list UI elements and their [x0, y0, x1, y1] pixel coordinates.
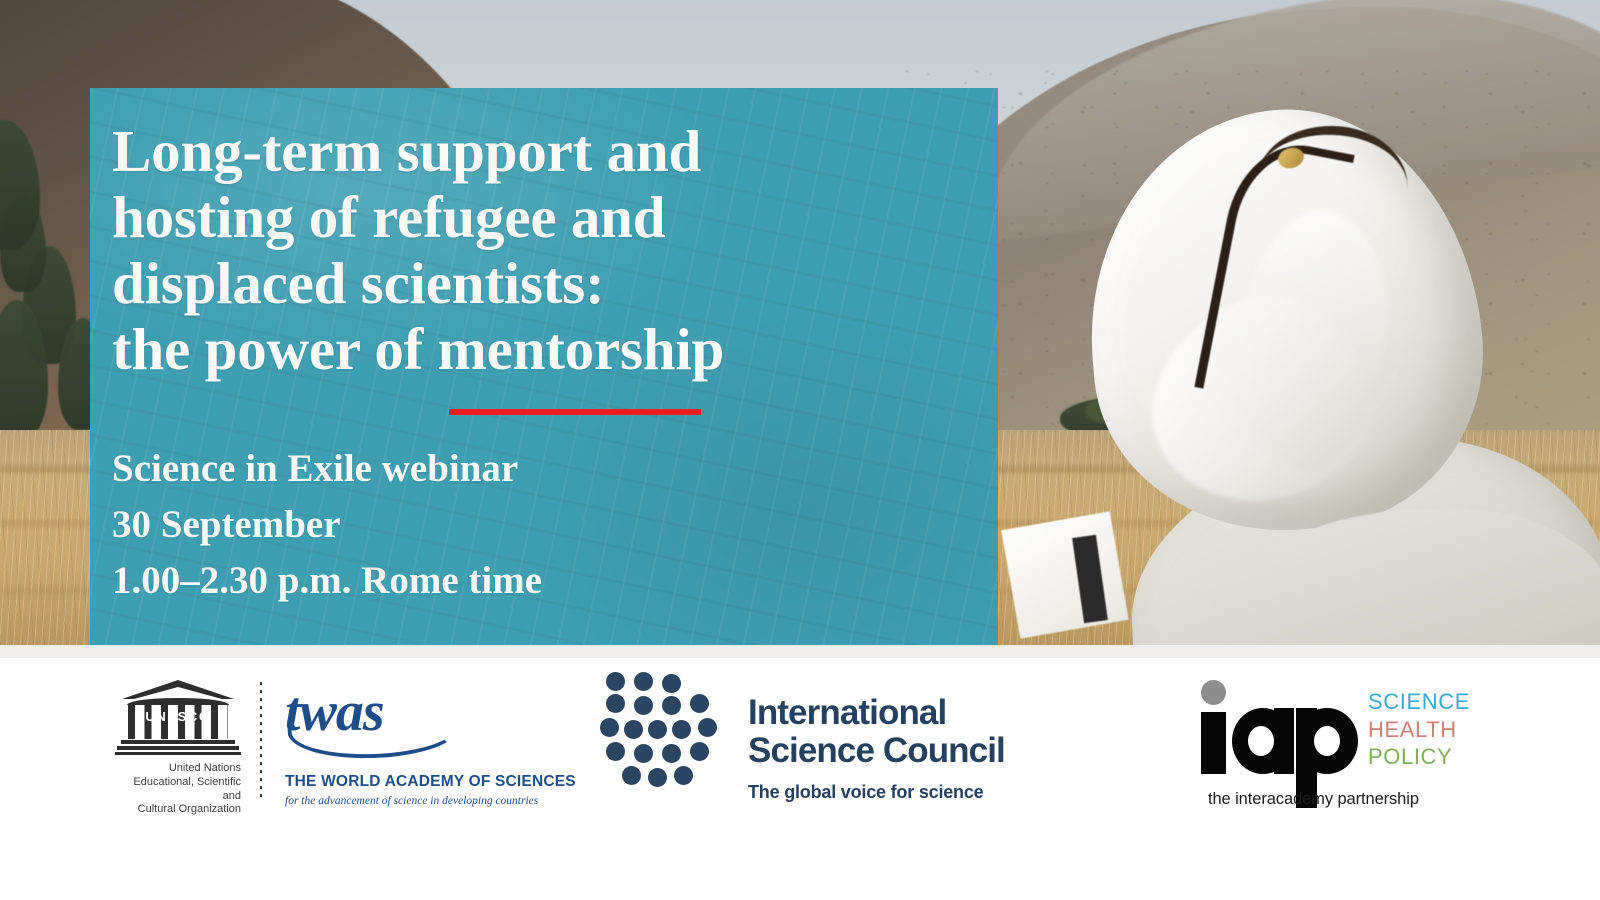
hero-photograph: Long-term support and hosting of refugee…	[0, 0, 1600, 645]
iap-word-health: HEALTH	[1368, 716, 1470, 744]
dotted-divider	[260, 682, 262, 800]
webinar-promo-poster: Long-term support and hosting of refugee…	[0, 0, 1600, 900]
unesco-wordmark: UNESCO	[128, 709, 228, 724]
twas-logo[interactable]: twas THE WORLD ACADEMY OF SCIENCES for t…	[285, 684, 555, 807]
event-details: Science in Exile webinar 30 September 1.…	[112, 441, 998, 608]
iap-pillar-words: SCIENCE HEALTH POLICY	[1368, 688, 1470, 771]
footer-logo-bar: UNESCO United Nations Educational, Scien…	[0, 658, 1600, 900]
logo-unesco-twas[interactable]: UNESCO United Nations Educational, Scien…	[110, 680, 470, 800]
isc-name: International Science Council	[748, 694, 1005, 770]
isc-text-block: International Science Council The global…	[748, 694, 1005, 803]
iap-tagline: the interacademy partnership	[1208, 790, 1419, 809]
unesco-temple-icon: UNESCO	[115, 680, 241, 756]
person-in-field	[1020, 90, 1600, 645]
separator-strip	[0, 645, 1600, 658]
twas-tagline: for the advancement of science in develo…	[285, 795, 555, 807]
iap-word-science: SCIENCE	[1368, 688, 1470, 716]
logo-row: UNESCO United Nations Educational, Scien…	[0, 658, 1600, 818]
iap-wordmark-icon	[1196, 680, 1356, 784]
isc-dot-cluster-icon	[600, 672, 720, 788]
logo-international-science-council[interactable]: International Science Council The global…	[600, 672, 1030, 812]
page-title: Long-term support and hosting of refugee…	[112, 118, 998, 382]
isc-tagline: The global voice for science	[748, 782, 1005, 803]
red-divider-rule	[449, 409, 701, 415]
unesco-caption: United Nations Educational, Scientific a…	[115, 762, 241, 817]
title-panel: Long-term support and hosting of refugee…	[90, 88, 998, 645]
unesco-logo[interactable]: UNESCO United Nations Educational, Scien…	[115, 680, 243, 817]
paper-sheet	[1001, 511, 1128, 638]
logo-iap[interactable]: SCIENCE HEALTH POLICY the interacademy p…	[1196, 678, 1496, 808]
twas-title: THE WORLD ACADEMY OF SCIENCES	[285, 773, 555, 791]
twas-swoosh-icon	[287, 721, 460, 761]
iap-word-policy: POLICY	[1368, 743, 1470, 771]
